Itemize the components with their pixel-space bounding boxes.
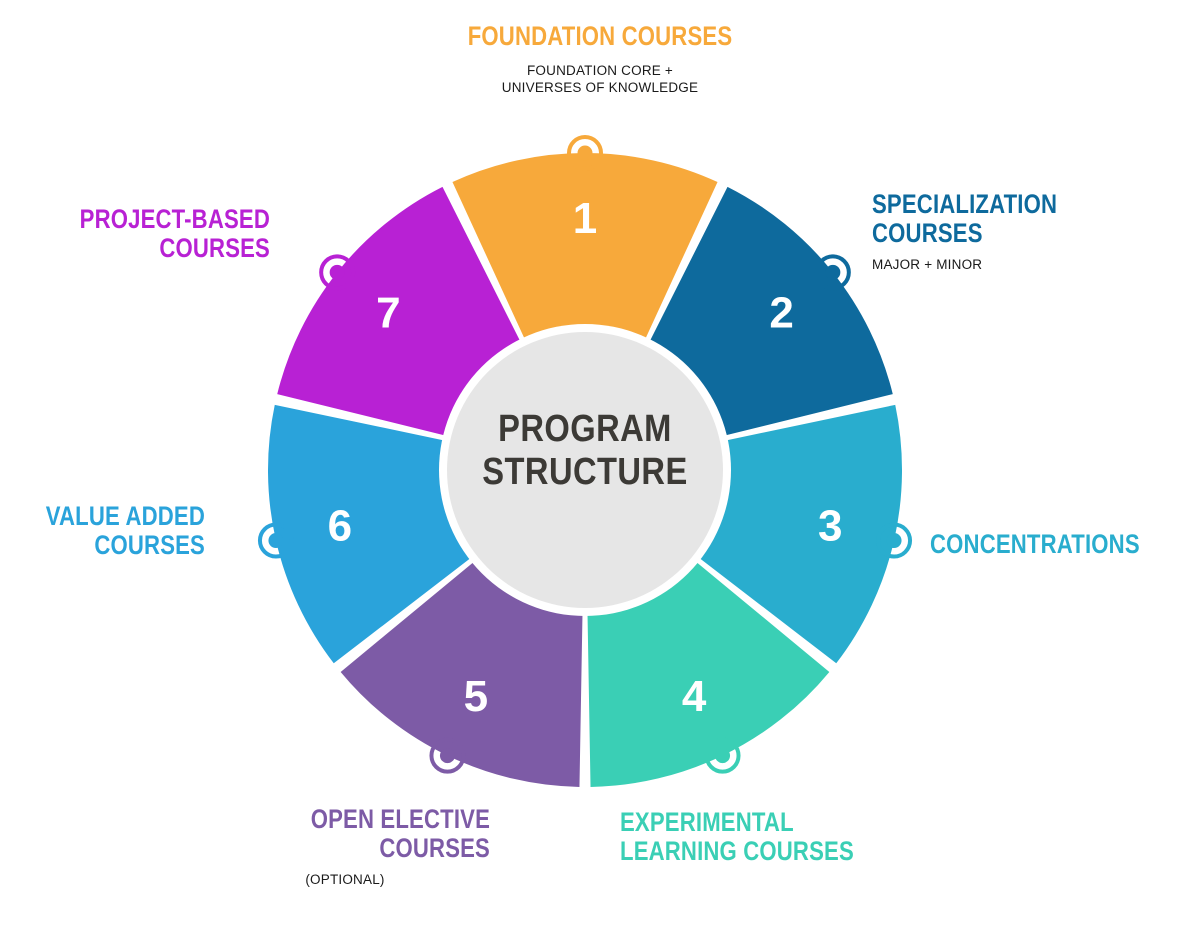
center-title-line1: PROGRAM xyxy=(447,408,722,451)
slice-number-5: 5 xyxy=(464,672,488,721)
slice-number-4: 4 xyxy=(682,672,707,721)
label-project-based-courses: PROJECT-BASED COURSES xyxy=(20,205,270,269)
label-title-4: EXPERIMENTAL LEARNING COURSES xyxy=(620,808,891,865)
connector-dot-7 xyxy=(330,265,345,280)
label-foundation-courses: FOUNDATION COURSES FOUNDATION CORE + UNI… xyxy=(330,22,870,97)
label-subtitle-1: FOUNDATION CORE + UNIVERSES OF KNOWLEDGE xyxy=(330,62,870,97)
connector-dot-1 xyxy=(578,146,593,161)
label-value-added-courses: VALUE ADDED COURSES xyxy=(10,502,205,566)
connector-dot-2 xyxy=(825,265,840,280)
label-title-7: PROJECT-BASED COURSES xyxy=(65,205,270,262)
label-concentrations: CONCENTRATIONS xyxy=(930,530,1195,566)
label-title-6: VALUE ADDED COURSES xyxy=(45,502,205,559)
label-title-3: CONCENTRATIONS xyxy=(930,530,1147,559)
label-title-5: OPEN ELECTIVE COURSES xyxy=(252,805,490,862)
label-subtitle-2: MAJOR + MINOR xyxy=(872,256,1192,274)
label-experimental-learning-courses: EXPERIMENTAL LEARNING COURSES xyxy=(620,808,950,872)
slice-number-7: 7 xyxy=(376,289,400,338)
slice-number-1: 1 xyxy=(573,194,597,243)
label-title-2: SPECIALIZATION COURSES xyxy=(872,190,1134,247)
connector-dot-5 xyxy=(440,748,455,763)
label-title-1: FOUNDATION COURSES xyxy=(379,22,822,51)
label-open-elective-courses: OPEN ELECTIVE COURSES (OPTIONAL) xyxy=(200,805,490,889)
infographic-canvas: 1234567 PROGRAM STRUCTURE FOUNDATION COU… xyxy=(0,0,1200,937)
label-specialization-courses: SPECIALIZATION COURSES MAJOR + MINOR xyxy=(872,190,1192,274)
slice-number-6: 6 xyxy=(328,501,352,550)
label-subtitle-5: (OPTIONAL) xyxy=(200,871,490,889)
slice-number-2: 2 xyxy=(769,289,793,338)
center-title: PROGRAM STRUCTURE xyxy=(425,408,745,493)
connector-dot-4 xyxy=(715,748,730,763)
center-title-line2: STRUCTURE xyxy=(447,451,722,494)
connector-dot-6 xyxy=(268,533,283,548)
connector-dot-3 xyxy=(887,533,902,548)
slice-number-3: 3 xyxy=(818,501,842,550)
